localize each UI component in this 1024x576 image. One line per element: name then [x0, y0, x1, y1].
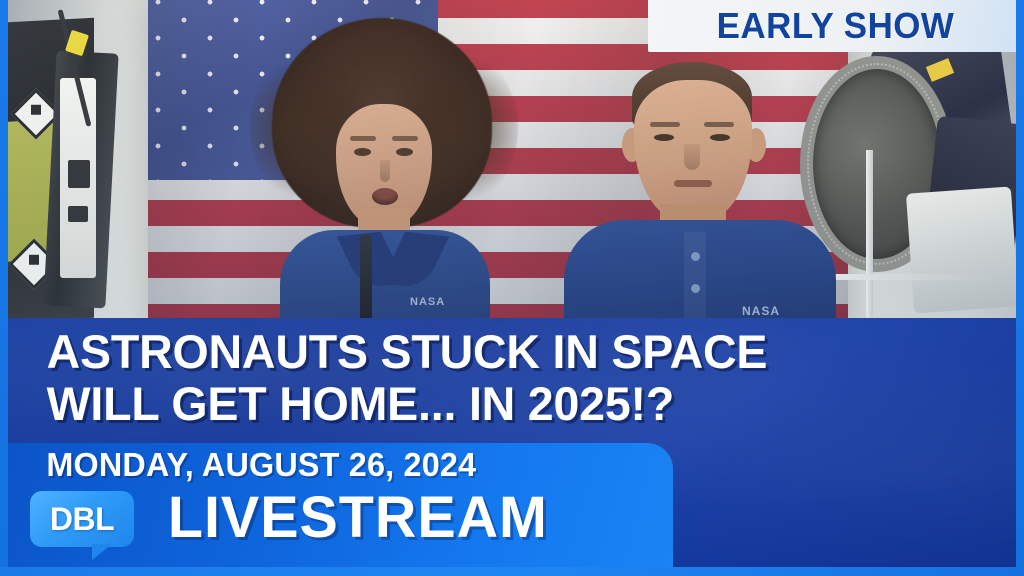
astronaut-left-nose — [380, 160, 390, 182]
broadcast-date: MONDAY, AUGUST 26, 2024 — [46, 446, 476, 484]
headline: ASTRONAUTS STUCK IN SPACE WILL GET HOME.… — [47, 326, 968, 430]
dbl-logo-text: DBL — [30, 491, 134, 547]
astronaut-left-collar-r — [381, 232, 449, 289]
astronaut-left-brow-r — [392, 136, 418, 141]
frame-border-left — [0, 0, 8, 576]
astronaut-right-mouth — [674, 180, 712, 187]
handrail-vertical — [866, 150, 873, 320]
astronaut-left-eye-l — [354, 148, 371, 156]
astronaut-left-mouth — [372, 188, 398, 205]
device-slot-upper — [68, 160, 90, 188]
astronaut-right-eye-l — [654, 134, 674, 141]
astronaut-left: NASA — [262, 18, 502, 338]
astronaut-left-brow-l — [350, 136, 376, 141]
early-show-banner: EARLY SHOW — [648, 0, 1024, 52]
astronaut-right-nose — [684, 144, 700, 170]
stowage-white-right — [906, 186, 1019, 313]
polo-button-2 — [691, 284, 700, 293]
device-slot-lower — [68, 206, 88, 222]
nasa-patch-right: NASA — [742, 304, 790, 318]
broadcast-screen: NASA NASA EARLY SHOW — [0, 0, 1024, 576]
nasa-patch-left: NASA — [410, 296, 456, 310]
livestream-label: LIVESTREAM — [168, 487, 548, 549]
astronaut-right-brow-l — [650, 122, 680, 127]
headline-line-1: ASTRONAUTS STUCK IN SPACE — [47, 325, 768, 378]
frame-border-right — [1016, 0, 1024, 576]
polo-button-1 — [691, 252, 700, 261]
astronaut-right-brow-r — [704, 122, 734, 127]
early-show-label: EARLY SHOW — [717, 5, 955, 47]
astronaut-left-microphone — [360, 234, 372, 324]
frame-border-bottom — [0, 567, 1024, 576]
astronaut-right-eye-r — [710, 134, 730, 141]
astronaut-left-eye-r — [396, 148, 413, 156]
astronaut-right-face — [634, 80, 752, 220]
headline-line-2: WILL GET HOME... IN 2025!? — [47, 378, 968, 430]
astronaut-right: NASA — [560, 62, 840, 332]
dbl-logo[interactable]: DBL — [30, 491, 134, 547]
